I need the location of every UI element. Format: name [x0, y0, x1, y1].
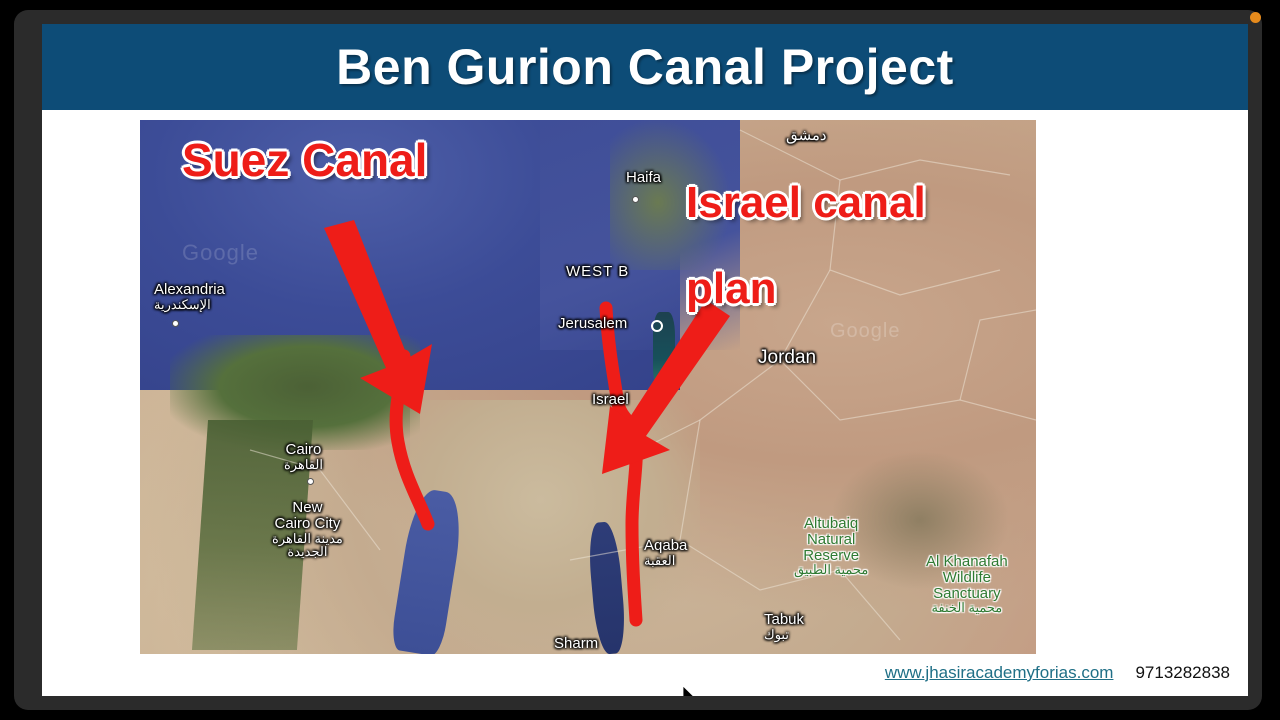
label-cairo: Cairo القاهرة	[284, 442, 323, 471]
marker-alexandria	[172, 320, 179, 327]
label-west-bank: WEST B	[566, 264, 629, 280]
label-jordan: Jordan	[758, 348, 816, 368]
map-image[interactable]: Google Google A	[140, 120, 1036, 654]
annotation-suez-canal: Suez Canal	[182, 138, 427, 183]
label-tabuk: Tabuk تبوك	[764, 612, 804, 641]
label-jerusalem: Jerusalem	[558, 316, 627, 332]
title-banner: Ben Gurion Canal Project	[42, 24, 1248, 110]
slide-footer: www.jhasiracademyforias.com 9713282838	[42, 658, 1248, 688]
label-sharm: Sharm	[554, 636, 598, 652]
website-link[interactable]: www.jhasiracademyforias.com	[885, 663, 1114, 683]
page-title: Ben Gurion Canal Project	[336, 38, 954, 96]
mouse-cursor	[683, 686, 697, 696]
label-alexandria: Alexandria الإسكندرية	[154, 282, 225, 311]
label-al-khanafah-wildlife-sanctuary: Al Khanafah Wildlife Sanctuary محمية الخ…	[926, 554, 1008, 615]
label-aqaba: Aqaba العقبة	[644, 538, 687, 567]
label-new-cairo-city: New Cairo City مدينة القاهرة الجديدة	[272, 500, 343, 559]
label-israel: Israel	[592, 392, 629, 408]
label-altubaiq-natural-reserve: Altubaiq Natural Reserve محمية الطبيق	[794, 516, 868, 577]
annotation-israel-line1: Israel canal	[686, 178, 926, 227]
annotation-israel-line2: plan	[686, 264, 776, 313]
slide-canvas: Ben Gurion Canal Project	[42, 24, 1248, 696]
screen: Ben Gurion Canal Project	[0, 0, 1280, 720]
marker-cairo	[307, 478, 314, 485]
status-indicator-dot	[1250, 12, 1261, 23]
label-haifa: Haifa	[626, 170, 661, 186]
marker-jerusalem	[651, 320, 663, 332]
phone-number: 9713282838	[1135, 663, 1230, 683]
marker-haifa	[632, 196, 639, 203]
annotation-israel-canal-plan: Israel canal plan	[686, 138, 926, 310]
suez-arrow-icon	[324, 220, 432, 414]
